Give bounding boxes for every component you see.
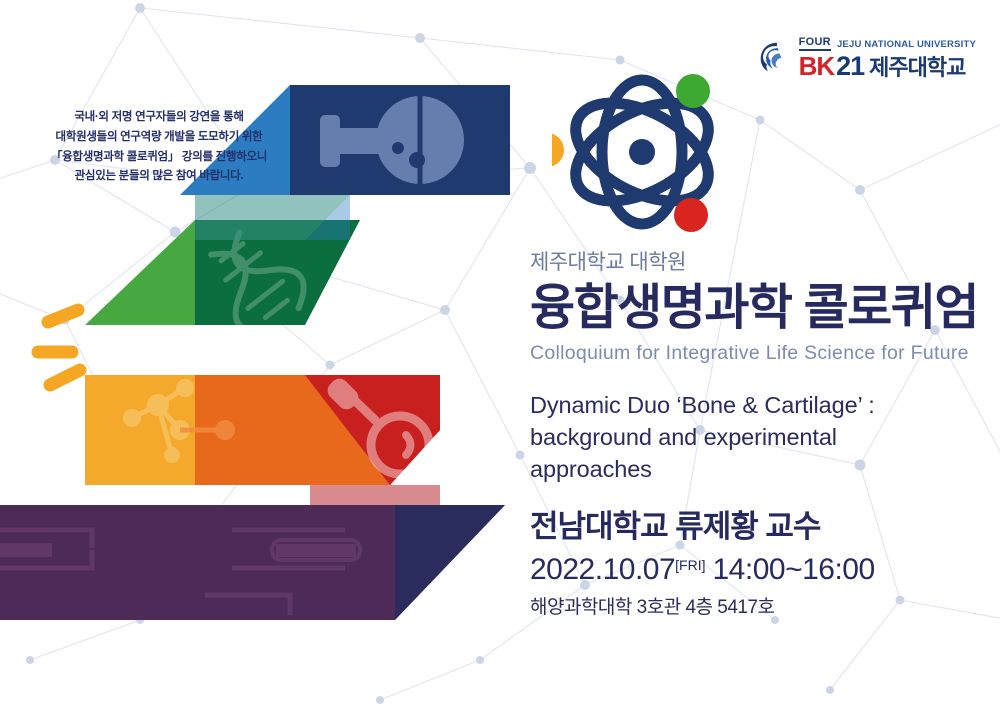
intro-line-3: 「융합생명과학 콜로퀴엄」 강의를 진행하오니 <box>24 148 294 168</box>
orange-block <box>85 375 440 505</box>
isometric-blocks-artwork <box>0 0 560 660</box>
page-title: 융합생명과학 콜로퀴엄 <box>530 279 990 339</box>
lecture-title-line-2: background and experimental <box>530 422 990 454</box>
atom-icon <box>552 62 732 242</box>
logo-bk-label: BK <box>799 53 835 79</box>
poster-canvas: FOUR JEJU NATIONAL UNIVERSITY BK 21 제주대학… <box>0 0 1000 707</box>
sparkle-icon <box>38 310 80 385</box>
lecture-title-line-3: approaches <box>530 454 990 486</box>
electron-yellow <box>552 133 564 167</box>
purple-block <box>0 505 505 620</box>
intro-line-4: 관심있는 분들의 많은 참여 바랍니다. <box>24 167 294 187</box>
lecture-datetime: 2022.10.07[FRI]14:00~16:00 <box>530 552 990 588</box>
electron-red <box>674 198 708 232</box>
bk21-emblem-icon <box>758 40 794 76</box>
logo-university-en: JEJU NATIONAL UNIVERSITY <box>837 40 976 51</box>
lecture-time: 14:00~16:00 <box>713 552 875 588</box>
intro-paragraph: 국내·외 저명 연구자들의 강연을 통해 대학원생들의 연구역량 개발을 도모하… <box>24 108 294 187</box>
logo-university-kr: 제주대학교 <box>869 57 965 79</box>
electron-green <box>676 74 710 108</box>
subtitle-english: Colloquium for Integrative Life Science … <box>530 341 990 365</box>
speaker-name: 전남대학교 류제황 교수 <box>530 508 990 545</box>
logo-four-label: FOUR <box>799 37 831 51</box>
lecture-title: Dynamic Duo ‘Bone & Cartilage’ : backgro… <box>530 390 990 486</box>
logo-number-label: 21 <box>836 53 864 80</box>
lecture-venue: 해양과학대학 3호관 4층 5417호 <box>530 597 990 620</box>
main-text-column: 제주대학교 대학원 융합생명과학 콜로퀴엄 Colloquium for Int… <box>530 250 990 620</box>
lecture-title-line-1: Dynamic Duo ‘Bone & Cartilage’ : <box>530 390 990 422</box>
lecture-day-of-week: [FRI] <box>675 557 705 574</box>
graduate-school-label: 제주대학교 대학원 <box>530 250 990 275</box>
bk21-jeju-logo: FOUR JEJU NATIONAL UNIVERSITY BK 21 제주대학… <box>758 36 976 80</box>
atom-nucleus <box>629 139 655 165</box>
lecture-date: 2022.10.07 <box>530 552 675 588</box>
intro-line-2: 대학원생들의 연구역량 개발을 도모하기 위한 <box>24 128 294 148</box>
intro-line-1: 국내·외 저명 연구자들의 강연을 통해 <box>24 108 294 128</box>
